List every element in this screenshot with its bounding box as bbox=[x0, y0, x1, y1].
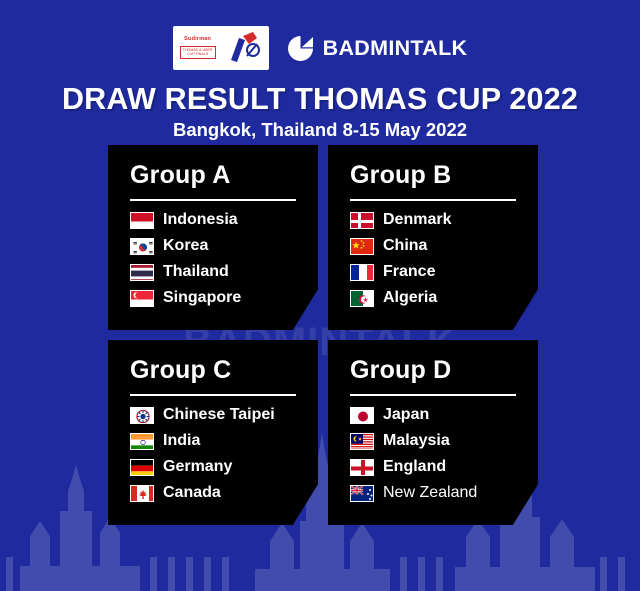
sponsor-brand-block: Sudirman THOMAS & UBER CUP FINALS bbox=[177, 29, 219, 67]
team-row: Germany bbox=[130, 458, 318, 476]
group-b-divider bbox=[350, 199, 516, 201]
team-name: Malaysia bbox=[383, 432, 450, 450]
sponsor-event-name: THOMAS & UBER CUP FINALS bbox=[180, 46, 216, 59]
logo-bar: Sudirman THOMAS & UBER CUP FINALS bbox=[0, 26, 640, 70]
team-row: Thailand bbox=[130, 263, 318, 281]
group-a-title: Group A bbox=[130, 161, 318, 190]
page-title: DRAW RESULT THOMAS CUP 2022 bbox=[0, 82, 640, 117]
flag-france bbox=[350, 264, 374, 281]
flag-new-zealand bbox=[350, 485, 374, 502]
team-name: Thailand bbox=[163, 263, 229, 281]
group-card-c: Group C Chinese Taipei India Germany bbox=[108, 340, 318, 525]
team-name: New Zealand bbox=[383, 484, 477, 502]
badmintalk-logo: BADMINTALK bbox=[287, 35, 468, 62]
team-row: Japan bbox=[350, 406, 538, 424]
group-d-title: Group D bbox=[350, 356, 538, 385]
team-row: Korea bbox=[130, 237, 318, 255]
page-subtitle: Bangkok, Thailand 8-15 May 2022 bbox=[0, 119, 640, 141]
team-row: Malaysia bbox=[350, 432, 538, 450]
team-row: Canada bbox=[130, 484, 318, 502]
group-d-divider bbox=[350, 394, 516, 396]
flag-algeria bbox=[350, 290, 374, 307]
team-name: Singapore bbox=[163, 289, 241, 307]
groups-grid: Group A Indonesia Korea Thailand bbox=[108, 145, 538, 525]
poster-root: Sudirman THOMAS & UBER CUP FINALS bbox=[0, 0, 640, 591]
flag-england bbox=[350, 459, 374, 476]
team-row: Chinese Taipei bbox=[130, 406, 318, 424]
team-name: China bbox=[383, 237, 427, 255]
sponsor-event-line2: CUP FINALS bbox=[187, 52, 208, 56]
flag-india bbox=[130, 433, 154, 450]
team-row: Singapore bbox=[130, 289, 318, 307]
team-name: France bbox=[383, 263, 435, 281]
flag-germany bbox=[130, 459, 154, 476]
team-row: Indonesia bbox=[130, 211, 318, 229]
flag-indonesia bbox=[130, 212, 154, 229]
flag-china bbox=[350, 238, 374, 255]
team-row: New Zealand bbox=[350, 484, 538, 502]
team-row: Algeria bbox=[350, 289, 538, 307]
group-card-a: Group A Indonesia Korea Thailand bbox=[108, 145, 318, 330]
team-name: Chinese Taipei bbox=[163, 406, 275, 424]
team-name: Denmark bbox=[383, 211, 451, 229]
flag-denmark bbox=[350, 212, 374, 229]
flag-malaysia bbox=[350, 433, 374, 450]
flag-canada bbox=[130, 485, 154, 502]
team-row: India bbox=[130, 432, 318, 450]
team-name: Germany bbox=[163, 458, 232, 476]
badmintalk-wordmark: BADMINTALK bbox=[323, 36, 468, 61]
flag-japan bbox=[350, 407, 374, 424]
flag-thailand bbox=[130, 264, 154, 281]
team-name: India bbox=[163, 432, 200, 450]
flag-singapore bbox=[130, 290, 154, 307]
group-c-divider bbox=[130, 394, 296, 396]
team-name: Korea bbox=[163, 237, 208, 255]
team-row: China bbox=[350, 237, 538, 255]
group-card-b: Group B Denmark China France bbox=[328, 145, 538, 330]
group-b-title: Group B bbox=[350, 161, 538, 190]
team-name: England bbox=[383, 458, 446, 476]
team-row: France bbox=[350, 263, 538, 281]
badminton-mascot-icon bbox=[221, 29, 265, 67]
team-row: England bbox=[350, 458, 538, 476]
flag-korea bbox=[130, 238, 154, 255]
group-c-title: Group C bbox=[130, 356, 318, 385]
group-card-d: Group D Japan Malaysia England bbox=[328, 340, 538, 525]
team-name: Japan bbox=[383, 406, 429, 424]
sponsor-brand-name: Sudirman bbox=[184, 37, 211, 43]
team-name: Canada bbox=[163, 484, 221, 502]
team-row: Denmark bbox=[350, 211, 538, 229]
group-a-divider bbox=[130, 199, 296, 201]
flag-chinese-taipei bbox=[130, 407, 154, 424]
badmintalk-shuttle-icon bbox=[287, 35, 314, 62]
team-name: Indonesia bbox=[163, 211, 238, 229]
sponsor-logo: Sudirman THOMAS & UBER CUP FINALS bbox=[173, 26, 269, 70]
team-name: Algeria bbox=[383, 289, 437, 307]
